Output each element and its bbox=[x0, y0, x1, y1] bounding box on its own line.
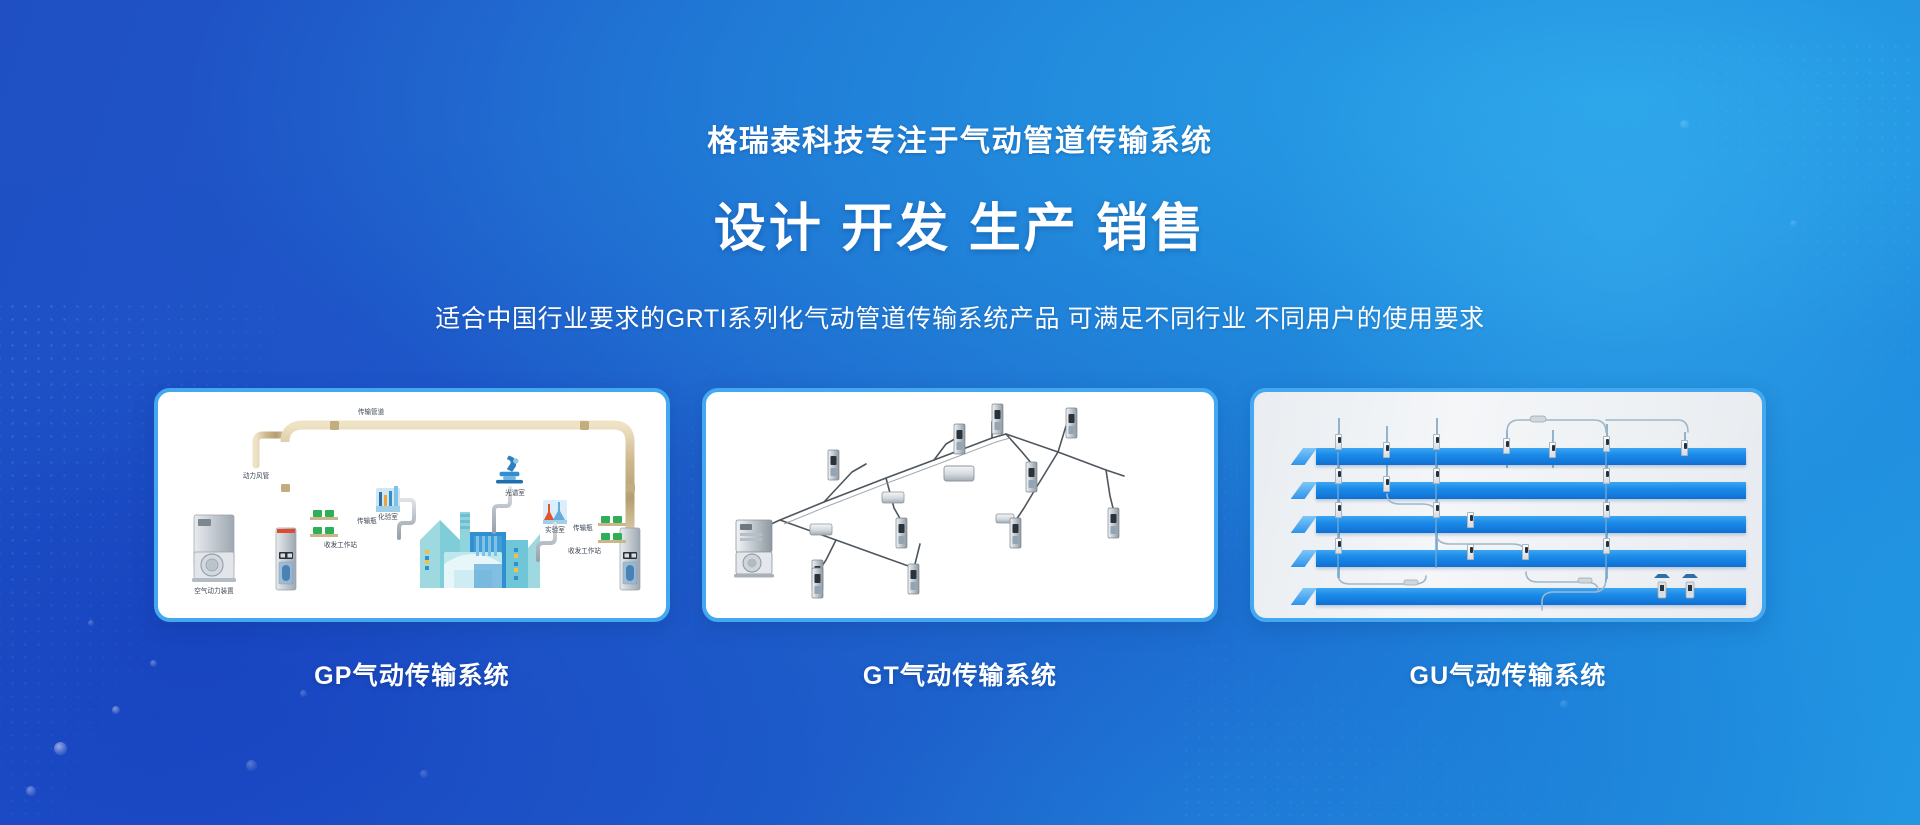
gp-label-transport-pipe: 传输管道 bbox=[358, 407, 385, 416]
gp-label-chem-lab: 化验室 bbox=[378, 512, 398, 521]
gp-label-station-right: 收发工作站 bbox=[568, 546, 601, 555]
gu-station bbox=[1335, 502, 1342, 518]
gu-station bbox=[1549, 442, 1556, 458]
gp-label-laboratory: 实验室 bbox=[545, 525, 565, 534]
gu-station bbox=[1522, 544, 1529, 560]
gu-tube-routing bbox=[1254, 392, 1762, 618]
gu-station bbox=[1467, 544, 1474, 560]
gu-system-diagram bbox=[1254, 392, 1762, 618]
gt-system-diagram bbox=[706, 392, 1214, 618]
banner-eyebrow: 格瑞泰科技专注于气动管道传输系统 bbox=[0, 116, 1920, 160]
card-title-gt: GT气动传输系统 bbox=[702, 656, 1218, 692]
banner-subline: 适合中国行业要求的GRTI系列化气动管道传输系统产品 可满足不同行业 不同用户的… bbox=[0, 299, 1920, 335]
product-card-row: 传输管道 动力风管 空气动力装置 传输瓶 收发工作站 化验室 光谱室 实验室 传… bbox=[0, 388, 1920, 692]
product-card-gt[interactable]: GT气动传输系统 bbox=[702, 388, 1218, 692]
gu-station bbox=[1603, 502, 1610, 518]
gu-station bbox=[1383, 442, 1390, 458]
gu-station bbox=[1335, 538, 1342, 554]
bokeh-dot bbox=[54, 742, 67, 755]
gu-station bbox=[1603, 538, 1610, 554]
gu-station bbox=[1433, 502, 1440, 518]
gu-station bbox=[1603, 436, 1610, 452]
bokeh-dot bbox=[1560, 700, 1568, 708]
product-card-gu[interactable]: GU气动传输系统 bbox=[1250, 388, 1766, 692]
card-gp-frame: 传输管道 动力风管 空气动力装置 传输瓶 收发工作站 化验室 光谱室 实验室 传… bbox=[154, 388, 670, 622]
gu-station bbox=[1467, 512, 1474, 528]
gp-system-diagram: 传输管道 动力风管 空气动力装置 传输瓶 收发工作站 化验室 光谱室 实验室 传… bbox=[158, 392, 666, 618]
card-title-gu: GU气动传输系统 bbox=[1250, 656, 1766, 692]
gp-diagram-svg: 传输管道 动力风管 空气动力装置 传输瓶 收发工作站 化验室 光谱室 实验室 传… bbox=[158, 392, 666, 618]
gu-station bbox=[1433, 468, 1440, 484]
hero-banner: 格瑞泰科技专注于气动管道传输系统 设计 开发 生产 销售 适合中国行业要求的GR… bbox=[0, 0, 1920, 825]
gp-label-spectro-room: 光谱室 bbox=[505, 488, 525, 497]
gu-station bbox=[1433, 434, 1440, 450]
gu-station bbox=[1603, 468, 1610, 484]
gp-label-carrier-left: 传输瓶 bbox=[357, 516, 377, 525]
gu-station bbox=[1335, 434, 1342, 450]
bokeh-dot bbox=[246, 760, 257, 771]
headings-block: 格瑞泰科技专注于气动管道传输系统 设计 开发 生产 销售 适合中国行业要求的GR… bbox=[0, 0, 1920, 335]
gu-station bbox=[1681, 440, 1688, 456]
bokeh-dot bbox=[112, 706, 120, 714]
card-title-gp: GP气动传输系统 bbox=[154, 656, 670, 692]
gp-label-power-duct: 动力风管 bbox=[243, 471, 270, 480]
gp-label-station-left: 收发工作站 bbox=[324, 540, 357, 549]
gp-label-air-power-unit: 空气动力装置 bbox=[194, 586, 234, 595]
gp-label-carrier-right: 传输瓶 bbox=[573, 523, 593, 532]
gt-diagram-svg bbox=[706, 392, 1214, 618]
card-gt-frame bbox=[702, 388, 1218, 622]
product-card-gp[interactable]: 传输管道 动力风管 空气动力装置 传输瓶 收发工作站 化验室 光谱室 实验室 传… bbox=[154, 388, 670, 692]
bokeh-dot bbox=[26, 786, 36, 796]
bokeh-dot bbox=[420, 770, 428, 778]
gu-station bbox=[1383, 476, 1390, 492]
banner-headline: 设计 开发 生产 销售 bbox=[0, 186, 1920, 261]
gu-station bbox=[1335, 468, 1342, 484]
card-gu-frame bbox=[1250, 388, 1766, 622]
gu-station bbox=[1503, 438, 1510, 454]
